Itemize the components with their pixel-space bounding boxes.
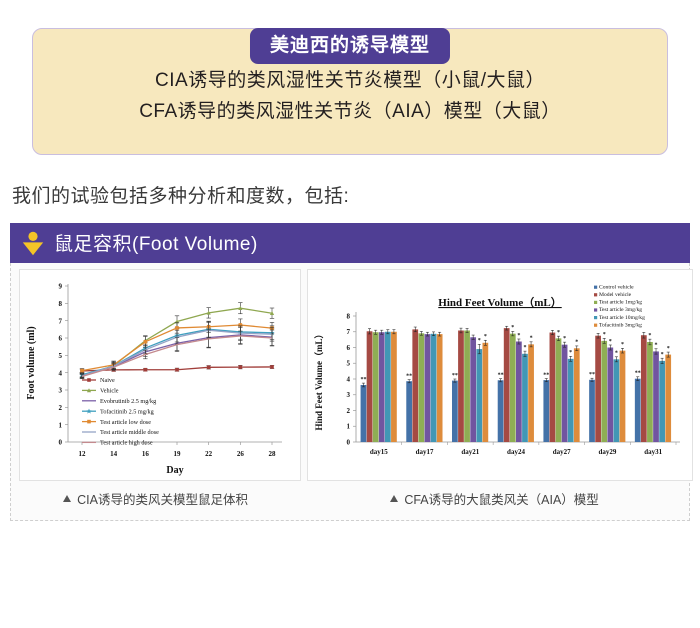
bar [406,381,412,442]
significance-marker: * [667,346,670,352]
significance-marker: ** [360,377,366,383]
right-x-tick-label: day31 [644,448,662,456]
bar [464,330,470,442]
left-x-tick-label: 22 [205,450,213,458]
right-chart-legend: Control vehicleModel vehicleTest article… [594,284,645,328]
legend-item-label: Test article 1mg/kg [599,299,642,305]
induced-model-section: 美迪西的诱导模型 CIA诱导的类风湿性关节炎模型（小鼠/大鼠） CFA诱导的类风… [32,28,668,155]
bar [458,330,464,442]
chart-captions-row: CIA诱导的类风关模型鼠足体积 CFA诱导的大鼠类风关（AIA）模型 [11,481,689,520]
left-x-tick-label: 26 [237,450,245,458]
left-y-tick-label: 6 [59,334,63,342]
bar [653,351,659,442]
model-line-cfa: CFA诱导的类风湿性关节炎（AIA）模型（大鼠） [43,96,657,127]
right-y-tick-label: 5 [347,359,351,367]
right-y-tick-label: 8 [347,312,351,320]
right-x-tick-label: day17 [416,448,434,456]
significance-marker: * [523,345,526,351]
bar [385,331,391,441]
bar [431,333,437,441]
bar [607,347,613,442]
significance-marker: ** [452,372,458,378]
section-banner-title: 鼠足容积(Foot Volume) [54,229,258,256]
bar [367,331,373,442]
bar [647,342,653,442]
bar [379,332,385,442]
significance-marker: * [569,350,572,356]
bar [543,380,549,442]
bar [635,378,641,441]
bar [614,359,620,442]
bar [418,333,424,442]
triangle-up-icon [390,495,398,502]
left-chart-series-group [79,302,274,378]
caption-left-text: CIA诱导的类风关模型鼠足体积 [77,489,248,508]
right-chart-y-axis: 012345678 [347,312,357,446]
hind-feet-volume-bar-chart: Hind Feet Volume（mL） 012345678 *********… [307,269,693,481]
legend-item-label: Test article 3mg/kg [599,307,642,313]
caption-left: CIA诱导的类风关模型鼠足体积 [11,489,300,508]
model-section-title-chip: 美迪西的诱导模型 [250,28,450,64]
right-x-tick-label: day24 [507,448,525,456]
significance-marker: * [484,334,487,340]
significance-marker: * [621,342,624,348]
legend-item-label: Test article low dose [100,418,151,425]
bar [361,385,367,442]
right-x-tick-label: day27 [553,448,571,456]
person-drop-icon [20,230,46,256]
right-y-tick-label: 7 [347,328,351,336]
left-y-tick-label: 8 [59,300,63,308]
legend-item-label: Vehicle [100,387,119,394]
left-chart-legend: NaiveVehicleEvobrutinib 2.5 mg/kgTofacit… [82,377,159,446]
bar [425,334,431,442]
legend-item-label: Test article middle dose [100,429,159,436]
right-y-tick-label: 0 [347,438,351,446]
bar [574,348,580,442]
significance-marker: * [615,350,618,356]
significance-marker: ** [543,372,549,378]
charts-row: 0123456789 12141619222628 NaiveVehicleEv… [11,263,689,481]
significance-marker: * [517,332,520,338]
bar [659,361,665,442]
bar [373,332,379,442]
section-banner: 鼠足容积(Foot Volume) [10,223,690,263]
bar [595,335,601,441]
left-y-tick-label: 5 [59,352,63,360]
right-y-tick-label: 4 [347,375,351,383]
legend-item-label: Tofacitinib 2.5 mg/kg [100,408,154,415]
bar [620,350,626,441]
triangle-up-icon [63,495,71,502]
significance-marker: * [557,330,560,336]
right-y-tick-label: 3 [347,391,351,399]
bar [437,334,443,442]
left-x-tick-label: 14 [110,450,118,458]
significance-marker: * [530,335,533,341]
bar [562,344,568,441]
caption-right: CFA诱导的大鼠类风关（AIA）模型 [300,489,689,508]
right-chart-x-axis: day15day17day21day24day27day29day31 [370,442,676,456]
left-x-tick-label: 28 [269,450,277,458]
intro-paragraph: 我们的试验包括多种分析和度数，包括: [12,181,700,208]
bar [550,332,556,441]
bar [498,380,504,442]
significance-marker: ** [498,372,504,378]
bar [516,341,522,441]
legend-item-label: Evobrutinib 2.5 mg/kg [100,398,156,405]
bar [504,328,510,442]
right-y-tick-label: 2 [347,407,351,415]
legend-item-label: Tofacitinib 3mg/kg [599,321,642,328]
left-y-tick-label: 4 [59,369,63,377]
left-chart-y-axis: 0123456789 [59,282,69,446]
left-chart-y-axis-title: Foot volume (ml) [26,326,37,399]
right-x-tick-label: day15 [370,448,388,456]
significance-marker: ** [589,372,595,378]
legend-item-label: Naive [100,377,115,384]
model-line-cia: CIA诱导的类风湿性关节炎模型（小鼠/大鼠） [43,65,657,96]
bar [412,329,418,442]
left-x-tick-label: 16 [142,450,150,458]
bar [482,342,488,441]
left-x-tick-label: 12 [79,450,87,458]
bar [665,354,671,441]
right-chart-bars-group: ******************************** [360,325,671,442]
significance-marker: * [511,325,514,331]
right-x-tick-label: day21 [461,448,479,456]
significance-marker: * [609,338,612,344]
bar [528,344,534,442]
bar [568,359,574,442]
right-y-tick-label: 1 [347,422,351,430]
legend-item-label: Test article 10mg/kg [599,314,645,320]
foot-volume-line-chart: 0123456789 12141619222628 NaiveVehicleEv… [19,269,301,481]
caption-right-text: CFA诱导的大鼠类风关（AIA）模型 [404,489,598,508]
significance-marker: ** [406,373,412,379]
foot-volume-section-card: 鼠足容积(Foot Volume) 0123456789 12141619222… [10,223,690,521]
bar [476,349,482,442]
significance-marker: * [603,332,606,338]
left-y-tick-label: 7 [59,317,63,325]
significance-marker: * [655,342,658,348]
bar [391,331,397,441]
significance-marker: * [563,336,566,342]
bar [601,341,607,442]
right-chart-y-axis-title: Hind Feet Volume（mL） [314,329,324,430]
significance-marker: * [648,333,651,339]
right-chart-title: Hind Feet Volume（mL） [438,296,561,309]
legend-item-label: Test article high dose [100,439,153,446]
bar [470,337,476,442]
significance-marker: ** [635,370,641,376]
bar [641,335,647,442]
legend-item-label: Model vehicle [599,292,632,298]
bar [452,380,458,441]
left-y-tick-label: 0 [59,438,63,446]
left-chart-x-axis-title: Day [166,465,183,476]
left-y-tick-label: 3 [59,386,63,394]
bar [589,379,595,441]
right-y-tick-label: 6 [347,344,351,352]
left-y-tick-label: 1 [59,421,63,429]
significance-marker: * [661,352,664,358]
left-x-tick-label: 19 [174,450,182,458]
significance-marker: * [575,339,578,345]
left-y-tick-label: 9 [59,282,63,290]
right-x-tick-label: day29 [598,448,616,456]
bar [510,333,516,441]
bar [556,338,562,442]
legend-item-label: Control vehicle [599,284,634,290]
significance-marker: * [478,338,481,344]
left-y-tick-label: 2 [59,404,63,412]
bar [522,353,528,441]
